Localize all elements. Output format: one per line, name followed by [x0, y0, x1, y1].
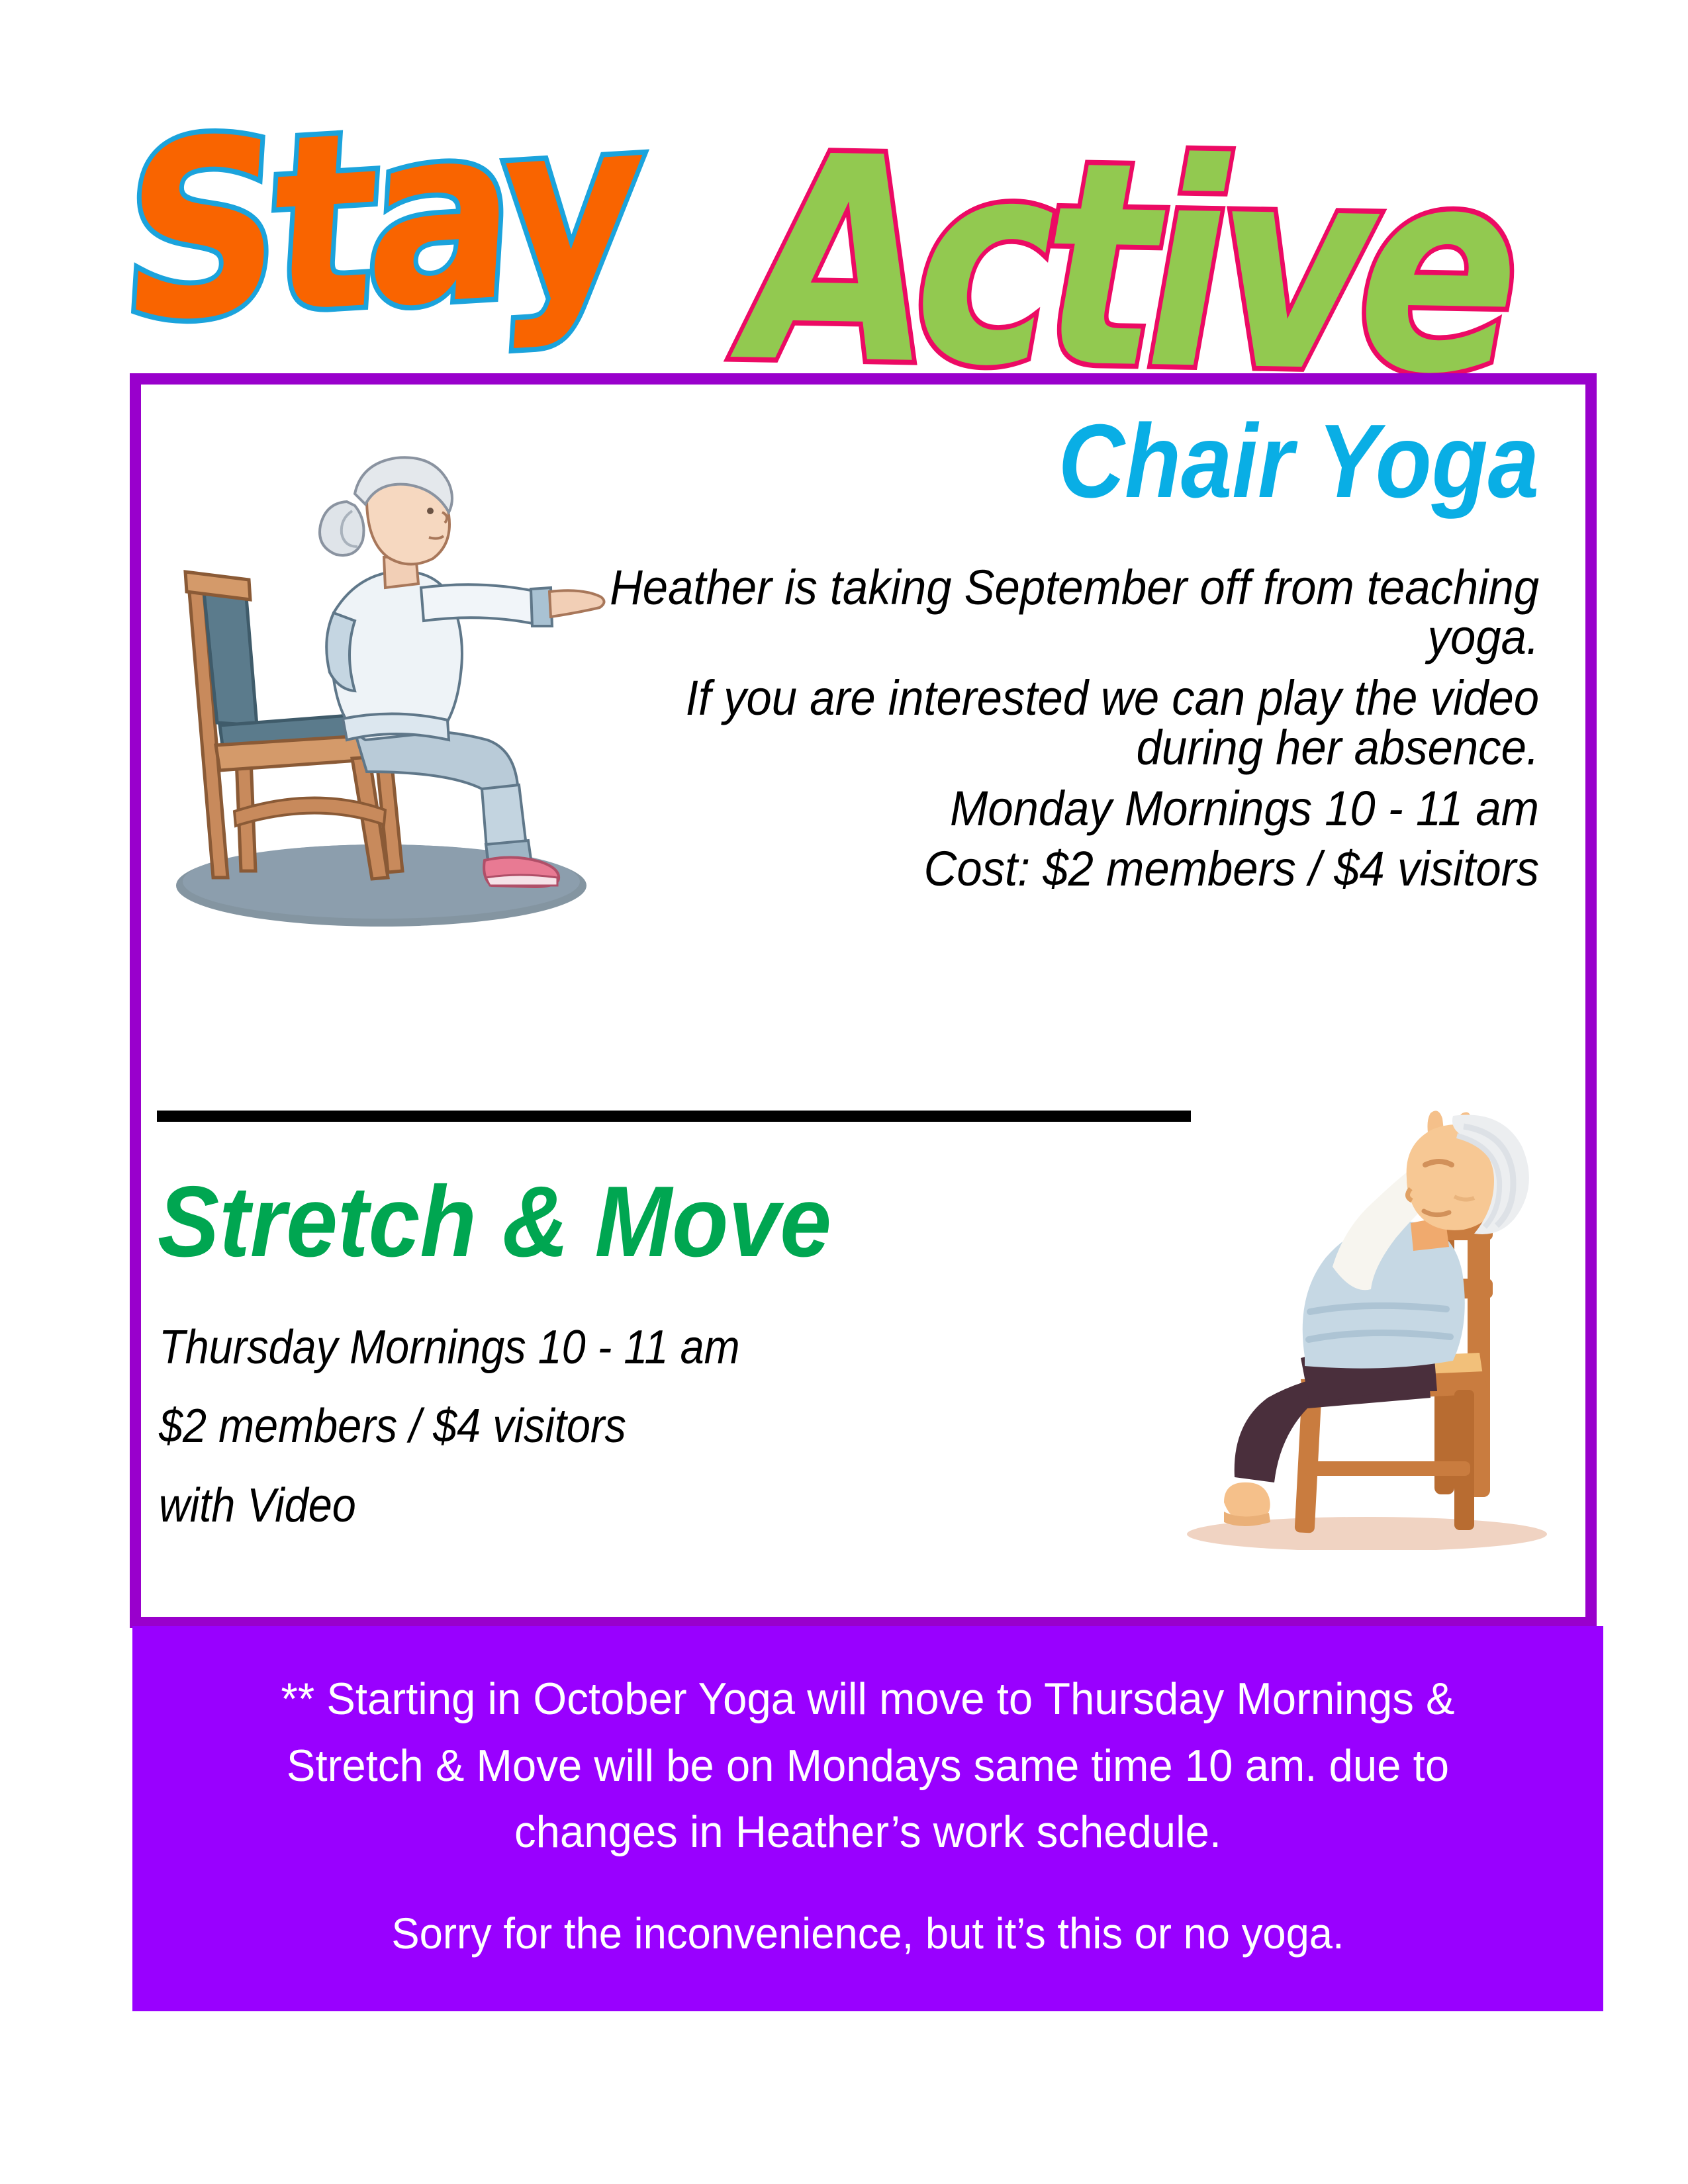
chair-yoga-illustration [156, 414, 606, 937]
stretch-move-line-1: Thursday Mornings 10 - 11 am [159, 1324, 933, 1372]
chair-yoga-line-4: Cost: $2 members / $4 visitors [600, 844, 1539, 893]
chair-yoga-line-1: Heather is taking September off from tea… [600, 563, 1539, 662]
title-word-active: Active [722, 119, 1536, 414]
stretch-move-illustration [1168, 1080, 1552, 1550]
footer-notice: ** Starting in October Yoga will move to… [132, 1626, 1603, 2011]
poster-title: Stay Active [0, 86, 1688, 364]
stretch-move-text: Thursday Mornings 10 - 11 am $2 members … [159, 1324, 933, 1530]
footer-apology: Sorry for the inconvenience, but it’s th… [212, 1905, 1523, 1962]
title-word-stay: Stay [116, 82, 641, 357]
chair-yoga-line-2: If you are interested we can play the vi… [600, 673, 1539, 773]
chair-yoga-heading: Chair Yoga [825, 409, 1539, 514]
stretch-move-line-2: $2 members / $4 visitors [159, 1402, 933, 1451]
chair-yoga-text: Heather is taking September off from tea… [600, 563, 1539, 894]
section-divider [157, 1111, 1191, 1122]
stretch-move-heading: Stretch & Move [158, 1171, 831, 1272]
chair-yoga-line-3: Monday Mornings 10 - 11 am [600, 784, 1539, 833]
stretch-move-line-3: with Video [159, 1482, 933, 1530]
footer-schedule-note: ** Starting in October Yoga will move to… [212, 1666, 1523, 1866]
